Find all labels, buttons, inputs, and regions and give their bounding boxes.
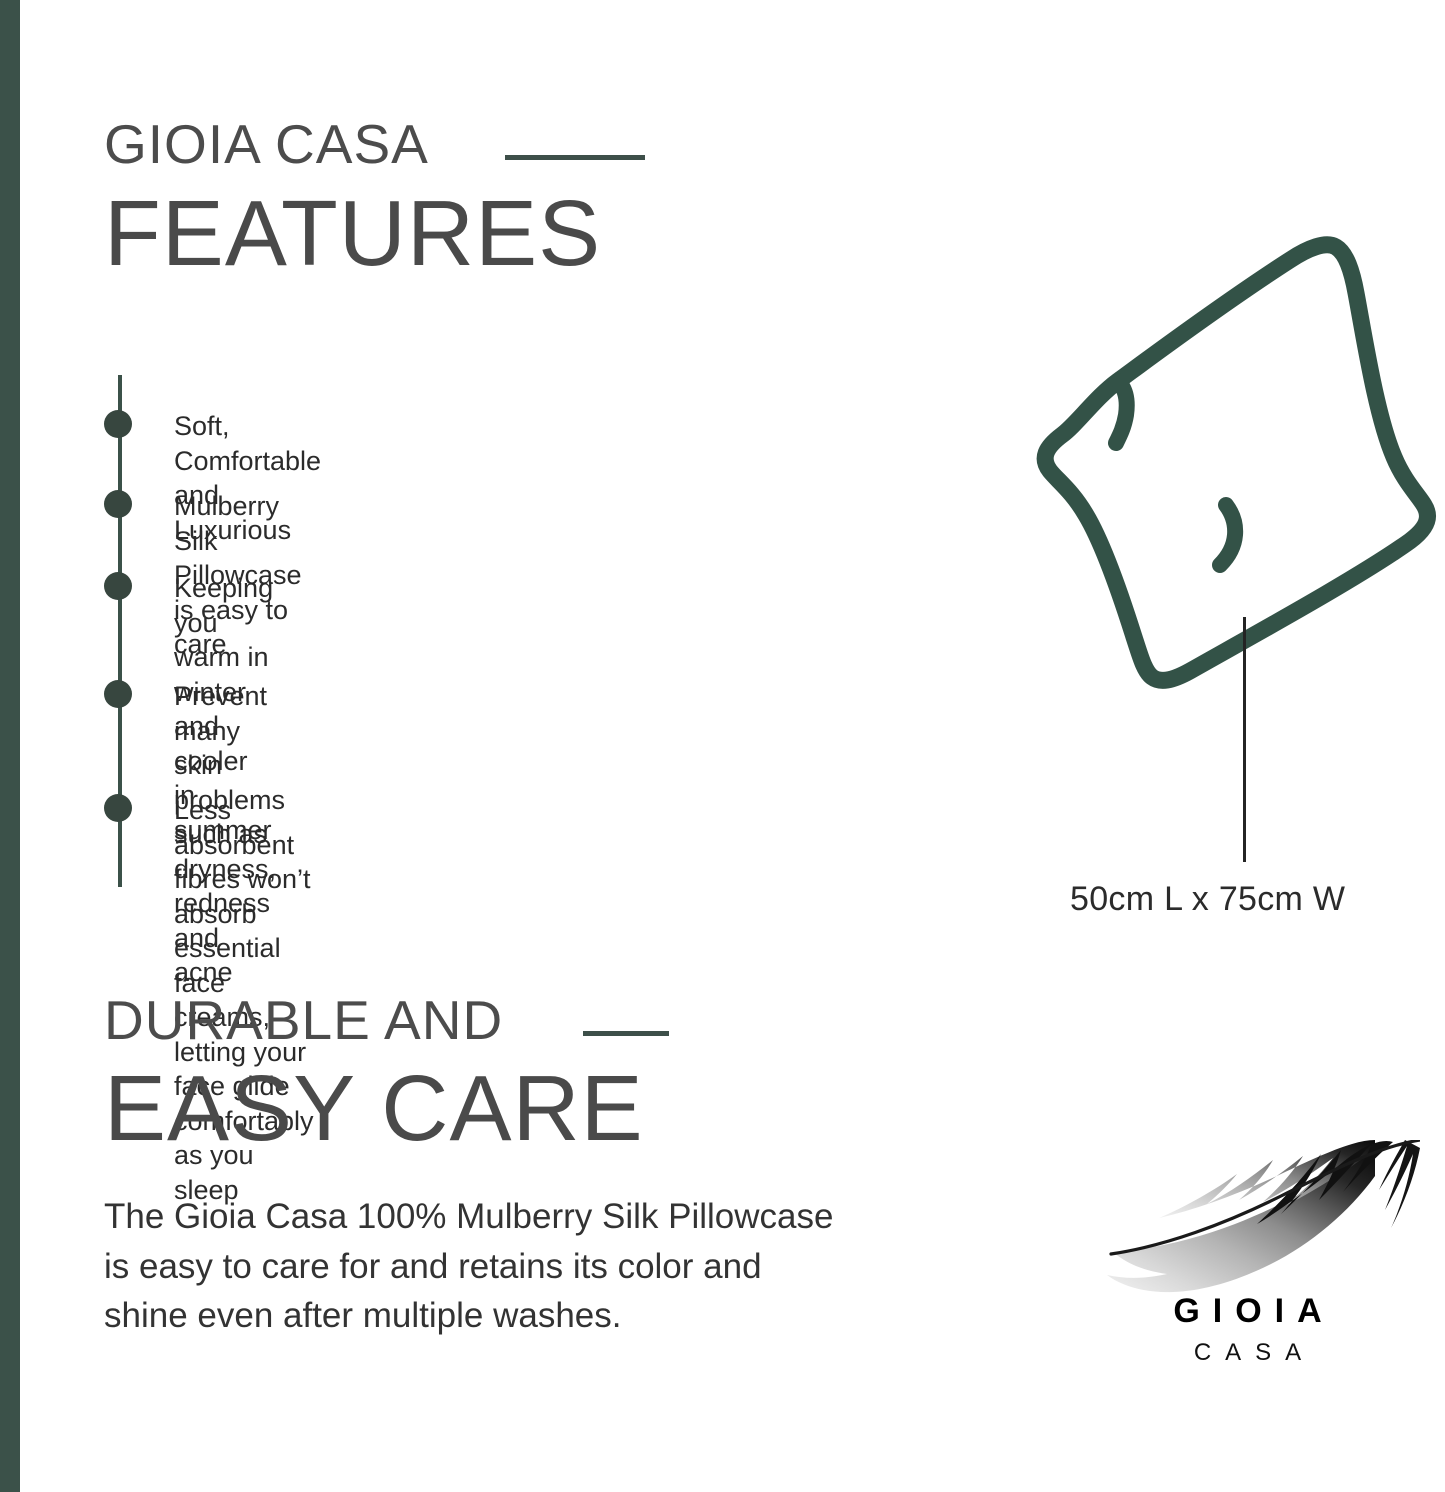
pillow-outline-icon [890, 185, 1445, 705]
dimension-leader-line [1243, 617, 1246, 862]
left-accent-bar [0, 0, 20, 1492]
features-heading-rule [505, 155, 645, 160]
care-heading-rule [583, 1031, 669, 1036]
dimension-label: 50cm L x 75cm W [1070, 880, 1345, 919]
bullet-dot-icon [104, 410, 132, 438]
bullet-dot-icon [104, 490, 132, 518]
feather-icon [1075, 1140, 1420, 1295]
care-eyebrow: DURABLE AND [104, 988, 503, 1052]
care-title: EASY CARE [104, 1060, 644, 1158]
care-body-text: The Gioia Casa 100% Mulberry Silk Pillow… [104, 1192, 1004, 1341]
infographic-page: GIOIA CASA FEATURES Soft, Comfortable an… [0, 0, 1445, 1492]
features-eyebrow: GIOIA CASA [104, 112, 429, 176]
features-title: FEATURES [104, 185, 601, 283]
logo-subwordmark: CASA [1075, 1339, 1420, 1367]
bullet-dot-icon [104, 572, 132, 600]
brand-logo: GIOIA CASA [1075, 1140, 1420, 1380]
bullet-dot-icon [104, 794, 132, 822]
logo-wordmark: GIOIA [1075, 1292, 1420, 1331]
bullet-dot-icon [104, 680, 132, 708]
